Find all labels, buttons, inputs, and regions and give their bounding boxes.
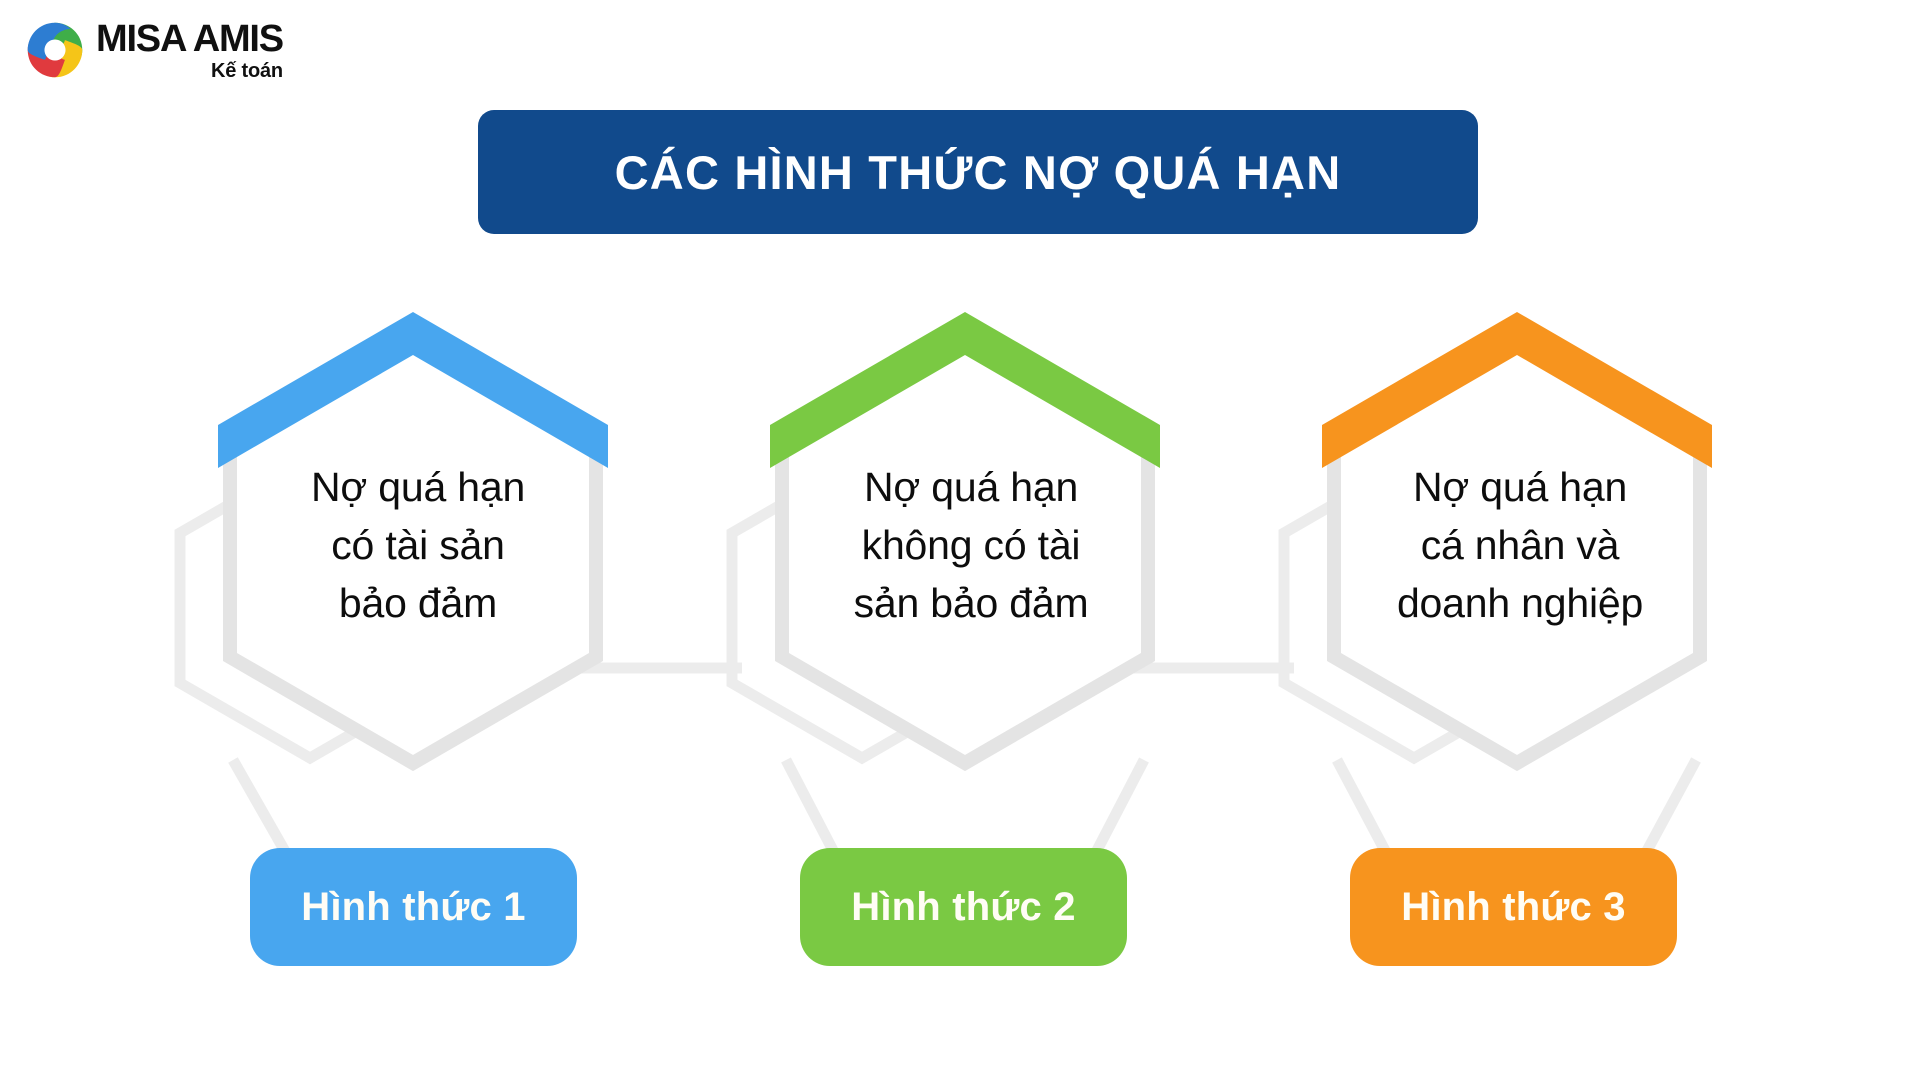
hex-caption-3: Nợ quá hạn cá nhân và doanh nghiệp [1355, 458, 1685, 633]
hex-caption-2: Nợ quá hạn không có tài sản bảo đảm [806, 458, 1136, 633]
pill-connector-2a [786, 760, 838, 860]
step-pill-1[interactable]: Hình thức 1 [250, 848, 577, 966]
step-pill-3[interactable]: Hình thức 3 [1350, 848, 1677, 966]
pill-connector-2b [1092, 760, 1144, 860]
pill-connector-3a [1337, 760, 1390, 860]
pill-connector-3b [1642, 760, 1696, 860]
hex-caption-1: Nợ quá hạn có tài sản bảo đảm [253, 458, 583, 633]
step-pill-2[interactable]: Hình thức 2 [800, 848, 1127, 966]
pill-connector-1 [233, 760, 290, 860]
